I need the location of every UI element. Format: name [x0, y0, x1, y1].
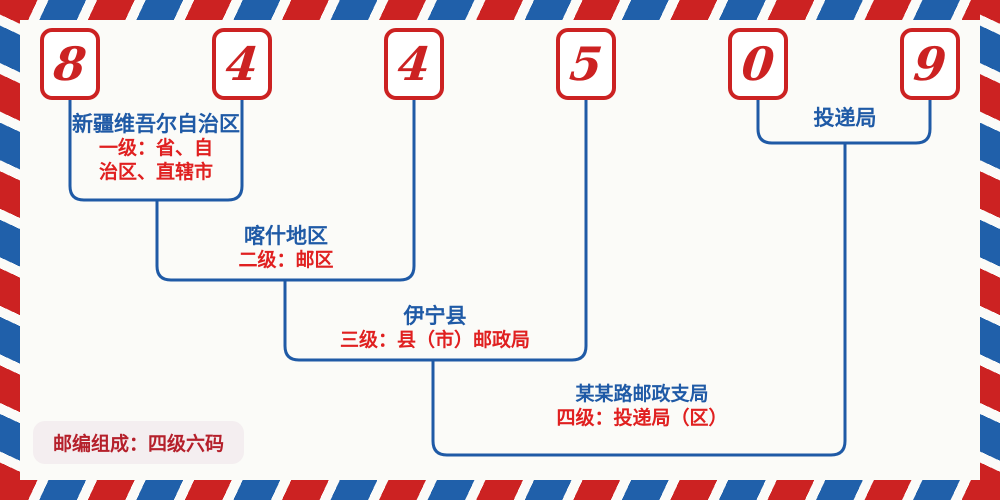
label-level-1-level-line1: 一级：省、自	[56, 137, 256, 161]
label-delivery-office-text: 投递局	[780, 106, 910, 131]
label-level-3-place: 伊宁县	[310, 304, 560, 329]
digit-box-1[interactable]: 8	[40, 28, 100, 100]
label-level-4-place: 某某路邮政支局	[512, 384, 772, 407]
bracket-level-4	[433, 441, 845, 455]
digit-value-2: 4	[224, 41, 261, 87]
label-level-1-place: 新疆维吾尔自治区	[56, 112, 256, 137]
digit-box-2[interactable]: 4	[212, 28, 272, 100]
label-level-2-place: 喀什地区	[186, 224, 386, 249]
digit-value-6: 9	[912, 41, 949, 87]
postcode-composition-badge: 邮编组成：四级六码	[33, 421, 244, 464]
digit-box-3[interactable]: 4	[384, 28, 444, 100]
label-level-1-level-line2: 治区、直辖市	[56, 161, 256, 185]
digit-box-4[interactable]: 5	[556, 28, 616, 100]
digit-value-1: 8	[52, 41, 89, 87]
label-level-4-level: 四级：投递局（区）	[512, 407, 772, 431]
label-level-1-level: 一级：省、自 治区、直辖市	[56, 137, 256, 185]
label-level-1: 新疆维吾尔自治区 一级：省、自 治区、直辖市	[56, 112, 256, 185]
label-level-2-level: 二级：邮区	[186, 249, 386, 273]
postal-code-diagram: 8 4 4 5 0 9 新疆维吾尔自治区 一级：省、自 治区、直辖市 喀什地区 …	[0, 0, 1000, 500]
label-level-3-level: 三级：县（市）邮政局	[310, 329, 560, 353]
digit-box-6[interactable]: 9	[900, 28, 960, 100]
digit-box-5[interactable]: 0	[728, 28, 788, 100]
label-level-4: 某某路邮政支局 四级：投递局（区）	[512, 384, 772, 431]
label-level-3: 伊宁县 三级：县（市）邮政局	[310, 304, 560, 353]
label-delivery-office: 投递局	[780, 106, 910, 131]
digit-value-5: 0	[740, 41, 777, 87]
digit-value-3: 4	[396, 41, 433, 87]
digit-value-4: 5	[568, 41, 605, 87]
label-level-2: 喀什地区 二级：邮区	[186, 224, 386, 273]
